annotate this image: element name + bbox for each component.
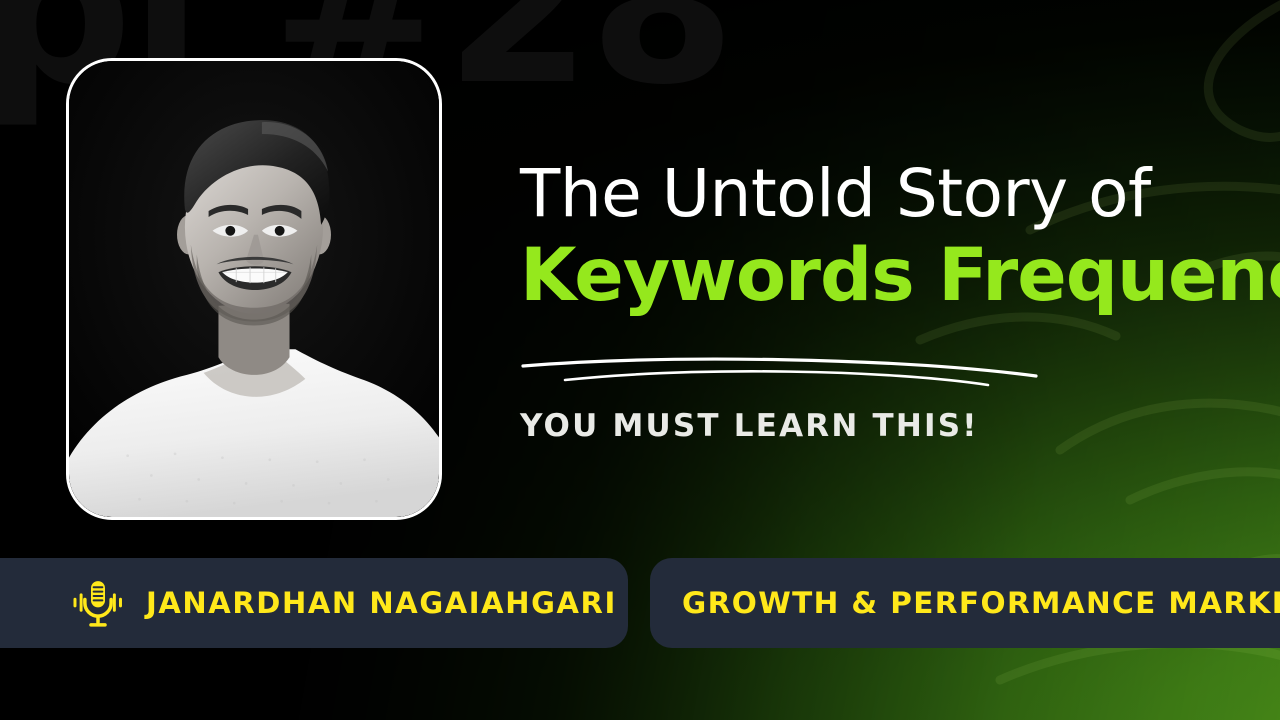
- kicker-text: YOU MUST LEARN THIS!: [520, 408, 979, 444]
- title-line-1: The Untold Story of: [520, 160, 1250, 229]
- speaker-name-label: JANARDHAN NAGAIAHGARI: [146, 586, 617, 620]
- microphone-icon: [70, 575, 126, 631]
- speaker-name-bar: JANARDHAN NAGAIAHGARI: [0, 558, 628, 648]
- speaker-portrait-image: [69, 61, 439, 517]
- speaker-role-label: GROWTH & PERFORMANCE MARKETER: [682, 586, 1280, 620]
- speaker-portrait-frame: [66, 58, 442, 520]
- headline-block: The Untold Story of Keywords Frequency: [520, 160, 1250, 314]
- podcast-thumbnail-canvas: pi #28: [0, 0, 1280, 720]
- speaker-role-bar: GROWTH & PERFORMANCE MARKETER: [650, 558, 1280, 648]
- title-line-2-highlight: Keywords Frequency: [520, 237, 1250, 314]
